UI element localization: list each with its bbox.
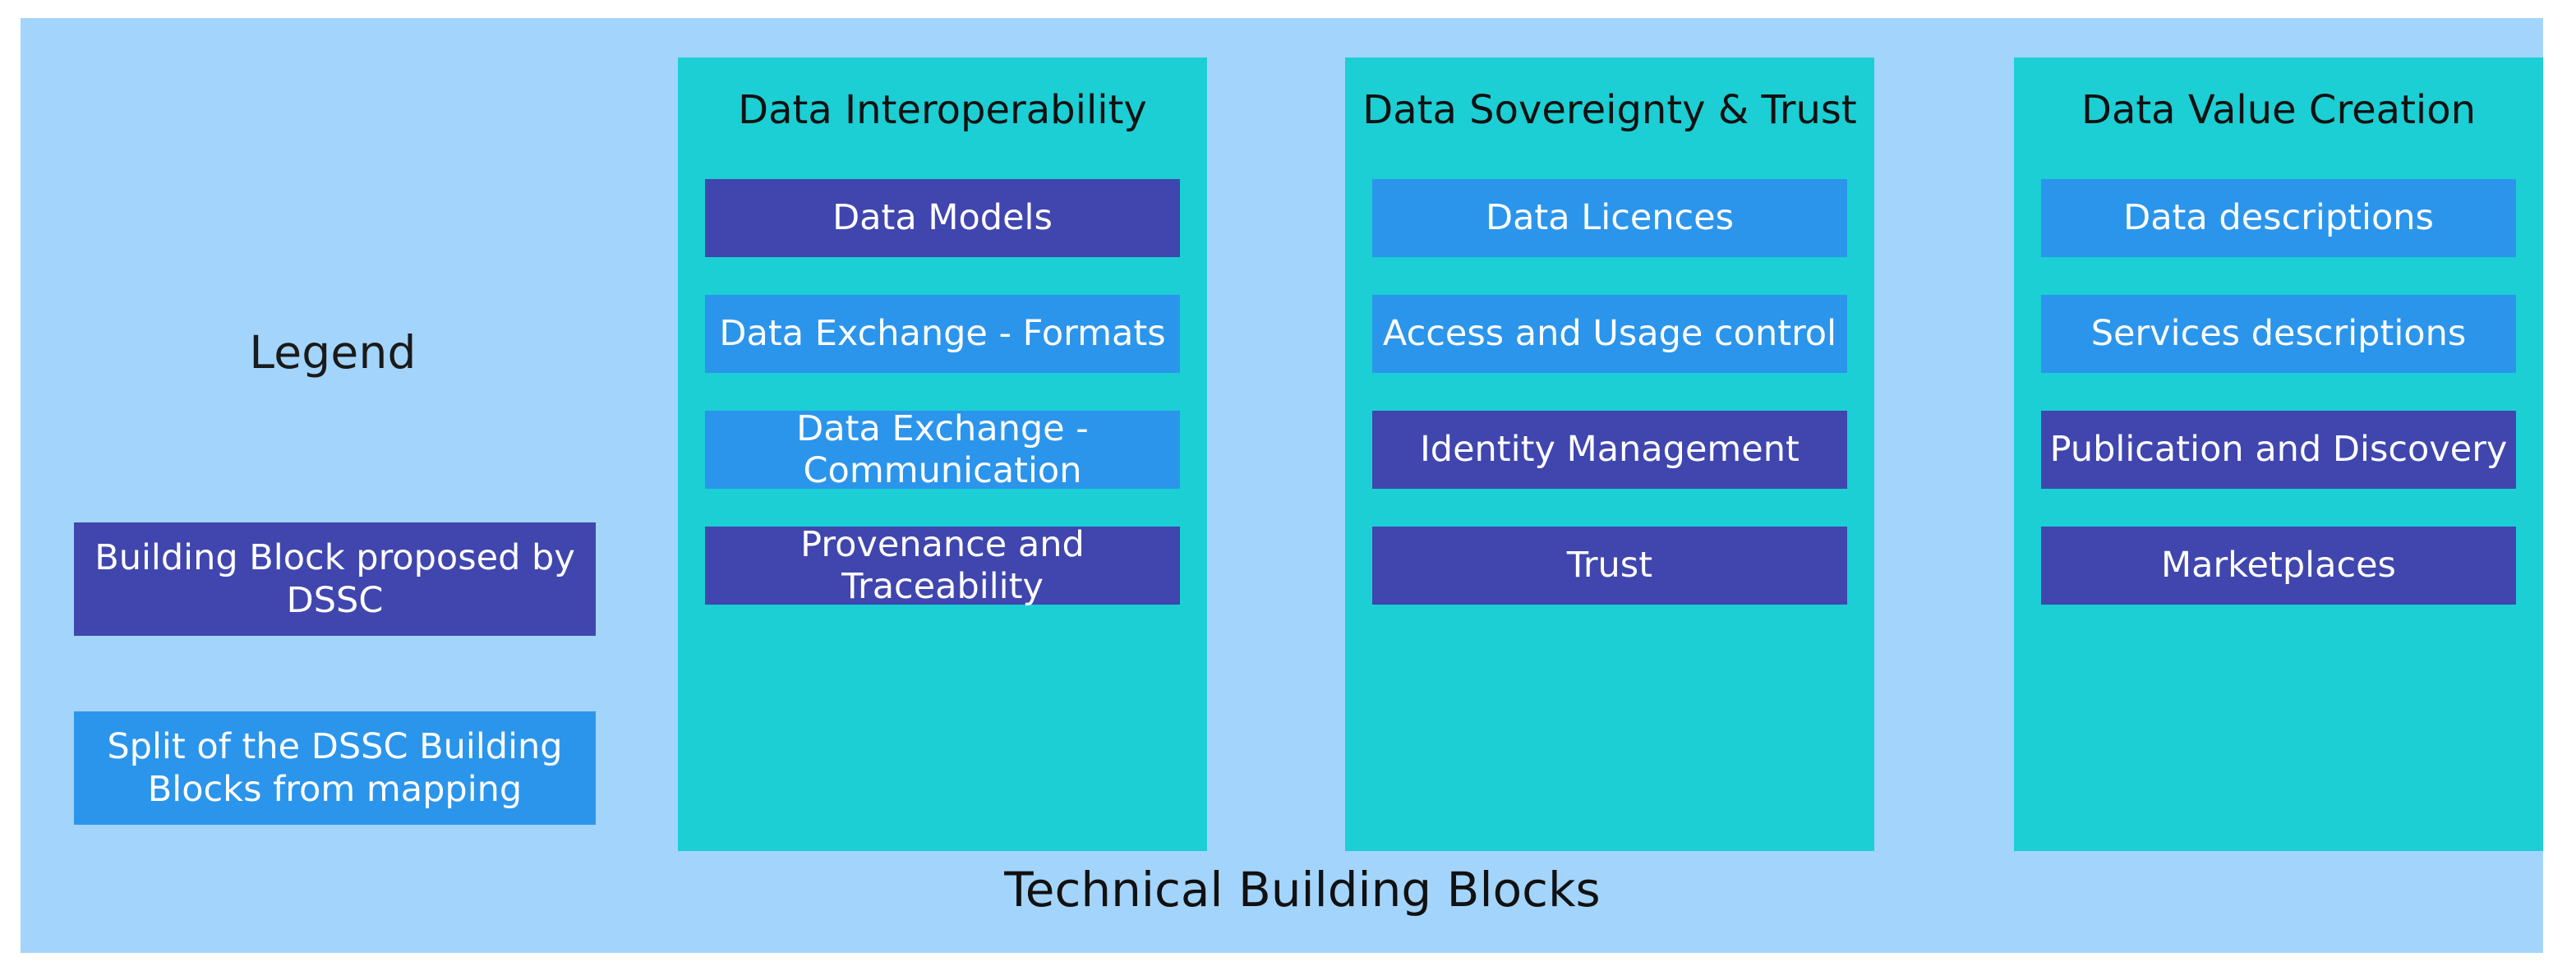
legend-title: Legend: [53, 328, 612, 378]
category-panel-data-interoperability: Data Interoperability Data Models Data E…: [678, 58, 1207, 851]
category-title-data-interoperability: Data Interoperability: [678, 89, 1207, 132]
legend-item-dssc-proposed: Building Block proposed by DSSC: [74, 522, 596, 636]
category-title-data-value-creation: Data Value Creation: [2014, 89, 2543, 132]
diagram-caption: Technical Building Blocks: [41, 864, 2564, 917]
building-block-marketplaces: Marketplaces: [2041, 527, 2516, 605]
category-title-data-sovereignty-and-trust: Data Sovereignty & Trust: [1345, 89, 1874, 132]
building-block-provenance-and-traceability: Provenance and Traceability: [705, 527, 1180, 605]
block-list-data-sovereignty-and-trust: Data Licences Access and Usage control I…: [1372, 179, 1847, 605]
building-block-access-and-usage-control: Access and Usage control: [1372, 295, 1847, 373]
building-block-data-models: Data Models: [705, 179, 1180, 257]
legend: Legend Building Block proposed by DSSC S…: [53, 310, 612, 819]
building-block-publication-and-discovery: Publication and Discovery: [2041, 411, 2516, 489]
block-list-data-value-creation: Data descriptions Services descriptions …: [2041, 179, 2516, 605]
legend-item-split-from-mapping: Split of the DSSC Building Blocks from m…: [74, 711, 596, 825]
building-block-data-exchange-communication: Data Exchange - Communication: [705, 411, 1180, 489]
category-panel-data-sovereignty-and-trust: Data Sovereignty & Trust Data Licences A…: [1345, 58, 1874, 851]
block-list-data-interoperability: Data Models Data Exchange - Formats Data…: [705, 179, 1180, 605]
diagram-background: Legend Building Block proposed by DSSC S…: [21, 18, 2543, 953]
building-block-data-licences: Data Licences: [1372, 179, 1847, 257]
building-block-identity-management: Identity Management: [1372, 411, 1847, 489]
building-block-data-exchange-formats: Data Exchange - Formats: [705, 295, 1180, 373]
diagram-canvas: Legend Building Block proposed by DSSC S…: [0, 0, 2576, 980]
building-block-trust: Trust: [1372, 527, 1847, 605]
building-block-data-descriptions: Data descriptions: [2041, 179, 2516, 257]
building-block-services-descriptions: Services descriptions: [2041, 295, 2516, 373]
category-panel-data-value-creation: Data Value Creation Data descriptions Se…: [2014, 58, 2543, 851]
